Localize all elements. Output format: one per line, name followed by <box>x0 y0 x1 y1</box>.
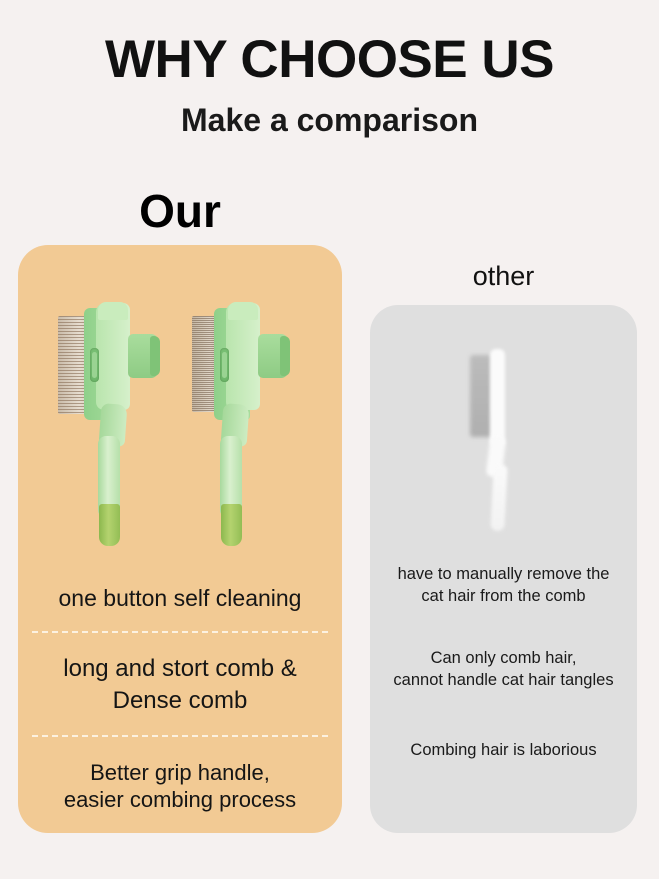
our-product-image <box>18 300 342 555</box>
our-feature-item: Better grip handle, easier combing proce… <box>18 759 342 813</box>
our-feature-line: long and stort comb & <box>26 653 334 685</box>
comb-handle-grip <box>99 504 120 546</box>
plain-comb-head <box>490 349 505 445</box>
comb-head-top <box>98 302 128 320</box>
feature-divider <box>32 735 328 737</box>
plain-comb-bristles <box>470 355 492 437</box>
other-feature-item: Combing hair is laborious <box>370 739 637 761</box>
other-feature-list: have to manually remove the cat hair fro… <box>370 557 637 761</box>
comb-long-short-icon <box>40 300 170 555</box>
other-column-label: other <box>370 259 637 293</box>
feature-divider <box>32 631 328 633</box>
other-feature-line: Can only comb hair, <box>374 647 633 669</box>
page-subtitle: Make a comparison <box>0 100 659 140</box>
other-product-card: have to manually remove the cat hair fro… <box>370 305 637 833</box>
other-feature-item: Can only comb hair, cannot handle cat ha… <box>370 647 637 691</box>
other-feature-line: have to manually remove the <box>374 563 633 585</box>
comb-side-knob-face <box>150 336 160 376</box>
plain-comb-handle <box>490 465 507 532</box>
other-product-image <box>462 345 552 535</box>
self-cleaning-button <box>92 352 97 378</box>
comb-head-top <box>228 302 258 320</box>
our-feature-item: one button self cleaning <box>18 583 342 613</box>
our-feature-line: Better grip handle, <box>26 759 334 786</box>
our-feature-item: long and stort comb & Dense comb <box>18 653 342 717</box>
page-title: WHY CHOOSE US <box>0 28 659 92</box>
other-feature-line: cannot handle cat hair tangles <box>374 669 633 691</box>
self-cleaning-button <box>222 352 227 378</box>
our-feature-line: Dense comb <box>26 685 334 717</box>
comb-handle-grip <box>221 504 242 546</box>
our-product-card: one button self cleaning long and stort … <box>18 245 342 833</box>
our-feature-line: easier combing process <box>26 786 334 813</box>
comparison-infographic: WHY CHOOSE US Make a comparison Our othe… <box>0 0 659 879</box>
our-feature-list: one button self cleaning long and stort … <box>18 565 342 813</box>
comb-dense-icon <box>170 300 300 555</box>
comb-side-knob-face <box>280 336 290 376</box>
other-feature-line: cat hair from the comb <box>374 585 633 607</box>
other-feature-item: have to manually remove the cat hair fro… <box>370 563 637 607</box>
our-column-label: Our <box>18 183 342 239</box>
